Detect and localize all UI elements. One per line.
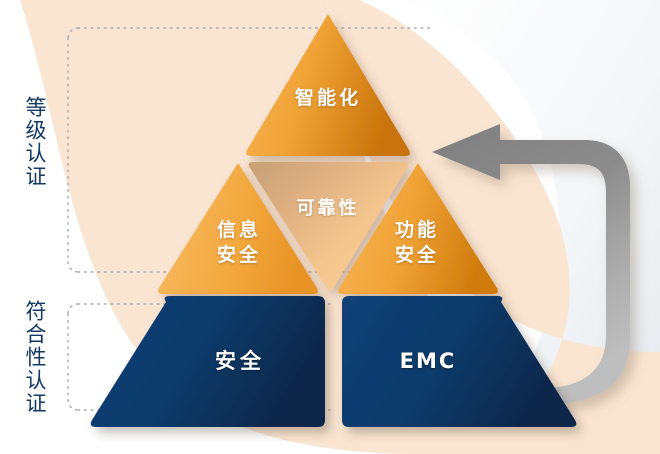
side-label-compliance-certification: 符合性认证 — [24, 300, 46, 415]
side-label-level-certification: 等级认证 — [24, 96, 46, 188]
diagram-svg — [0, 0, 660, 454]
diagram-canvas: 等级认证 符合性认证 智能化 信息 安全 可靠性 功能 安全 安全 EMC — [0, 0, 660, 454]
